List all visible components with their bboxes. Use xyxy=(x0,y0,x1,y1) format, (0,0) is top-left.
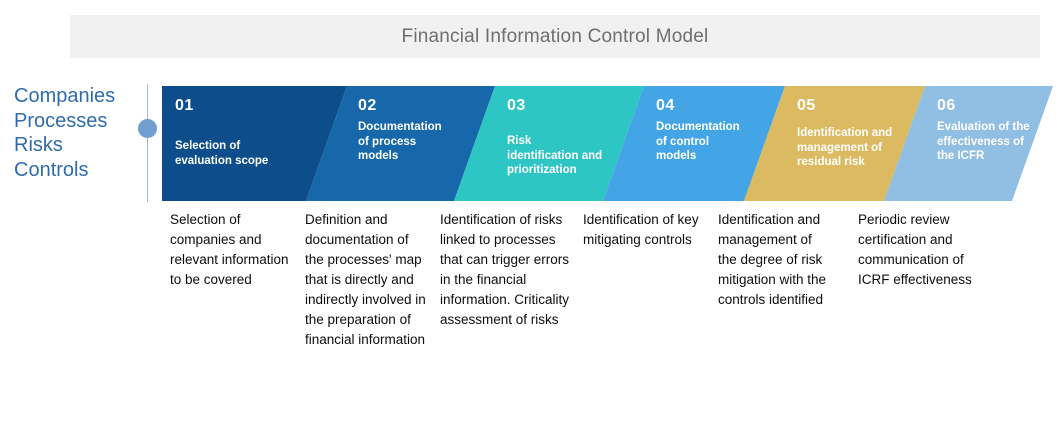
step-label-02: Documentation of process models xyxy=(358,120,442,164)
step-description-04: Identification of key mitigating control… xyxy=(583,210,708,250)
step-label-03: Risk identification and prioritization xyxy=(507,134,602,178)
title-banner: Financial Information Control Model xyxy=(70,15,1040,58)
axis-label-processes: Processes xyxy=(14,109,139,134)
step-label-01: Selection of evaluation scope xyxy=(175,139,268,168)
step-number-04: 04 xyxy=(656,97,675,115)
connector-node-dot xyxy=(138,119,157,138)
axis-label-companies: Companies xyxy=(14,84,139,109)
connector-line xyxy=(147,84,148,202)
step-number-03: 03 xyxy=(507,97,526,115)
step-label-04: Documentation of control models xyxy=(656,120,740,164)
step-description-06: Periodic review certification and commun… xyxy=(858,210,993,290)
axis-label-controls: Controls xyxy=(14,158,139,183)
axis-label-group: Companies Processes Risks Controls xyxy=(14,84,139,182)
step-description-05: Identification and management of the deg… xyxy=(718,210,830,310)
step-description-group: Selection of companies and relevant info… xyxy=(162,210,1059,415)
step-label-06: Evaluation of the effectiveness of the I… xyxy=(937,120,1030,164)
step-description-02: Definition and documentation of the proc… xyxy=(305,210,427,350)
process-flow-arrow: 01 Selection of evaluation scope 02 Docu… xyxy=(162,86,1053,201)
step-description-03: Identification of risks linked to proces… xyxy=(440,210,570,330)
step-number-06: 06 xyxy=(937,97,956,115)
page-title: Financial Information Control Model xyxy=(402,26,709,48)
axis-label-risks: Risks xyxy=(14,133,139,158)
step-description-01: Selection of companies and relevant info… xyxy=(170,210,292,290)
step-number-02: 02 xyxy=(358,97,377,115)
step-number-01: 01 xyxy=(175,97,194,115)
step-label-05: Identification and management of residua… xyxy=(797,126,892,170)
step-number-05: 05 xyxy=(797,97,816,115)
